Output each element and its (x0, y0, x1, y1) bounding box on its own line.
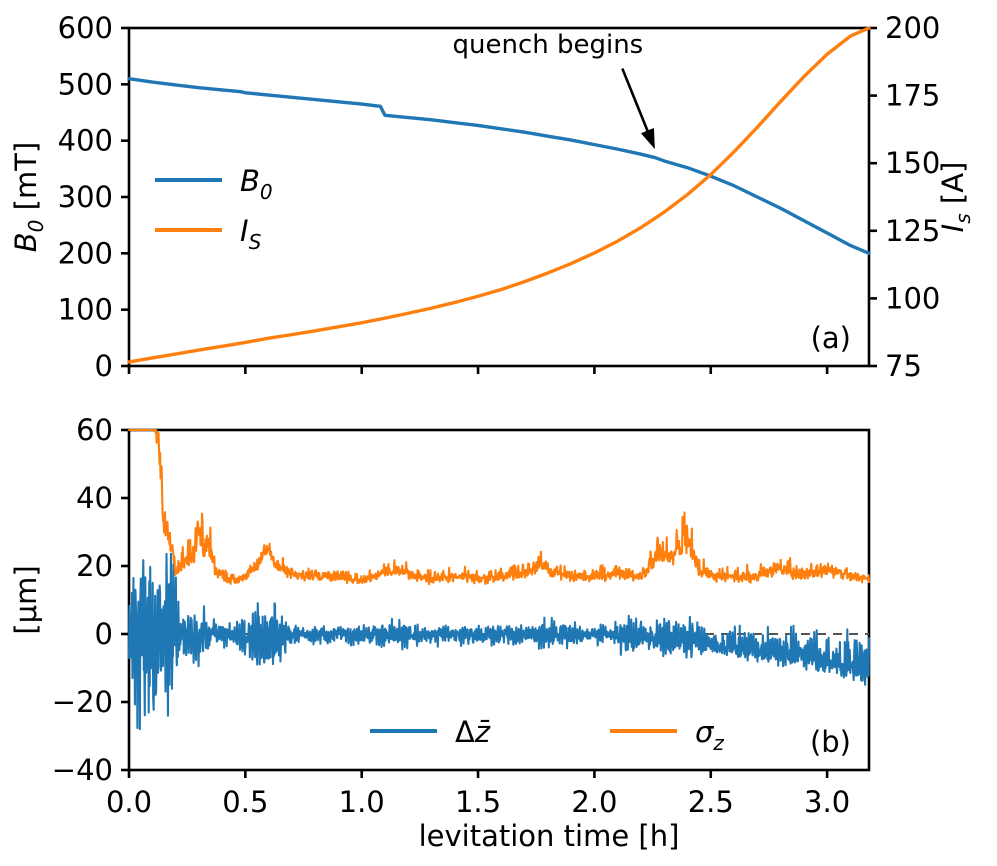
ytick-label-b-5: 60 (76, 413, 113, 447)
y2tick-label-4: 175 (885, 79, 940, 113)
y2-axis-label-text: Is [A] (936, 162, 975, 233)
panel-frame-b (129, 430, 869, 770)
legend-label-delta_z_bar: Δz̄ (455, 715, 491, 749)
x-axis-label-text: levitation time [h] (419, 819, 680, 853)
xtick-label-3: 1.5 (455, 785, 501, 819)
y2tick-label-5: 200 (885, 11, 940, 45)
y2tick-label-1: 100 (885, 281, 940, 315)
panel-b: 0.00.51.01.52.02.53.0−40−200204060[μm]le… (9, 413, 869, 853)
legend-b: Δz̄σz (370, 715, 724, 755)
xtick-label-6: 3.0 (804, 785, 850, 819)
y-axis-label-text: B0 [mT] (9, 142, 48, 252)
ytick-label-a-0: 0 (95, 349, 113, 383)
xtick-label-4: 2.0 (571, 785, 617, 819)
y2tick-label-2: 125 (885, 214, 940, 248)
y-axis-label: [μm] (9, 565, 43, 634)
panel-letter-b: (b) (810, 725, 851, 759)
annotation-arrowhead-0 (641, 128, 655, 149)
y2tick-label-3: 150 (885, 146, 940, 180)
ytick-label-a-4: 400 (58, 124, 113, 158)
ytick-label-a-5: 500 (58, 67, 113, 101)
y-axis-label-text: [μm] (9, 565, 43, 634)
xtick-label-2: 1.0 (339, 785, 385, 819)
ytick-label-a-3: 300 (58, 180, 113, 214)
legend-label-I_s: IS (240, 214, 262, 254)
panel-letter-a: (a) (811, 321, 851, 355)
ytick-label-b-4: 40 (76, 481, 113, 515)
xtick-label-1: 0.5 (222, 785, 268, 819)
ytick-label-a-2: 200 (58, 236, 113, 270)
legend-label-sigma_z: σz (695, 715, 724, 755)
xtick-label-5: 2.5 (688, 785, 734, 819)
ytick-label-b-1: −20 (52, 685, 113, 719)
matplotlib-figure: 010020030040050060075100125150175200B0 [… (0, 0, 997, 866)
y2tick-label-0: 75 (885, 349, 922, 383)
ytick-label-a-1: 100 (58, 293, 113, 327)
ytick-label-a-6: 600 (58, 11, 113, 45)
figure-root: 010020030040050060075100125150175200B0 [… (0, 0, 997, 866)
panel-a: 010020030040050060075100125150175200B0 [… (9, 11, 975, 383)
y2-axis-label: Is [A] (936, 162, 975, 233)
ytick-label-b-0: −40 (52, 753, 113, 787)
xtick-label-0: 0.0 (106, 785, 152, 819)
legend-label-B_0: B0 (240, 164, 273, 204)
annotation-text-0: quench begins (452, 30, 643, 60)
ytick-label-b-3: 20 (76, 549, 113, 583)
ytick-label-b-2: 0 (95, 617, 113, 651)
legend-a: B0IS (155, 164, 273, 254)
y-axis-label: B0 [mT] (9, 142, 48, 252)
annotation-arrow-line-0 (622, 69, 650, 138)
series-sigma_z (129, 430, 869, 584)
